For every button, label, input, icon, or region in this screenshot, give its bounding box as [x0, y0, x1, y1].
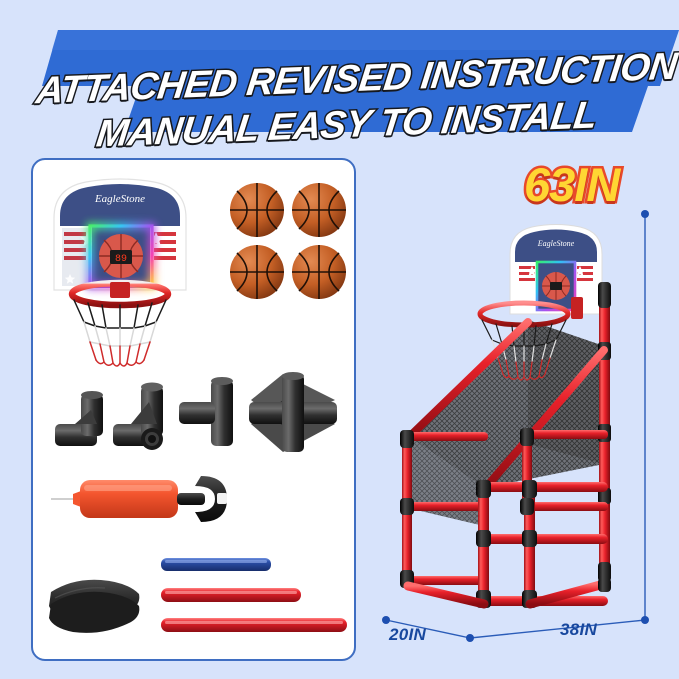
parts-panel: EagleStone	[31, 158, 356, 661]
connectors-svg	[51, 372, 341, 457]
basketball	[229, 182, 285, 238]
infographic-canvas: ATTACHED REVISED INSTRUCTION MANUAL EASY…	[0, 0, 679, 679]
basketball	[229, 244, 285, 300]
elbow-connector	[55, 391, 103, 446]
hand-pump	[51, 468, 251, 530]
folded-net	[49, 580, 139, 633]
backboard-with-hoop: EagleStone	[40, 170, 200, 370]
basketballs-group	[229, 182, 349, 304]
net-and-tubes-group	[43, 550, 353, 650]
dimension-callouts: 20IN 38IN	[370, 190, 679, 660]
three-way-corner-connector	[113, 383, 163, 451]
depth-dimension-label: 20IN	[389, 625, 426, 645]
scoreboard-digits: 89	[115, 254, 127, 265]
pipe-connectors-group	[51, 372, 341, 457]
header-banner: ATTACHED REVISED INSTRUCTION MANUAL EASY…	[0, 28, 679, 140]
basketball	[291, 182, 347, 238]
svg-text:EagleStone: EagleStone	[94, 193, 145, 205]
cross-connector	[249, 372, 337, 452]
basketball	[291, 244, 347, 300]
blue-tube	[161, 558, 271, 571]
dimension-svg	[370, 190, 679, 660]
red-tube-long	[161, 618, 347, 632]
tee-connector	[179, 377, 233, 446]
bottom-items-svg	[43, 550, 353, 650]
pump-svg	[51, 468, 251, 530]
width-dimension-label: 38IN	[560, 620, 597, 640]
red-tube-short	[161, 588, 301, 602]
backboard-svg: EagleStone	[40, 170, 200, 370]
